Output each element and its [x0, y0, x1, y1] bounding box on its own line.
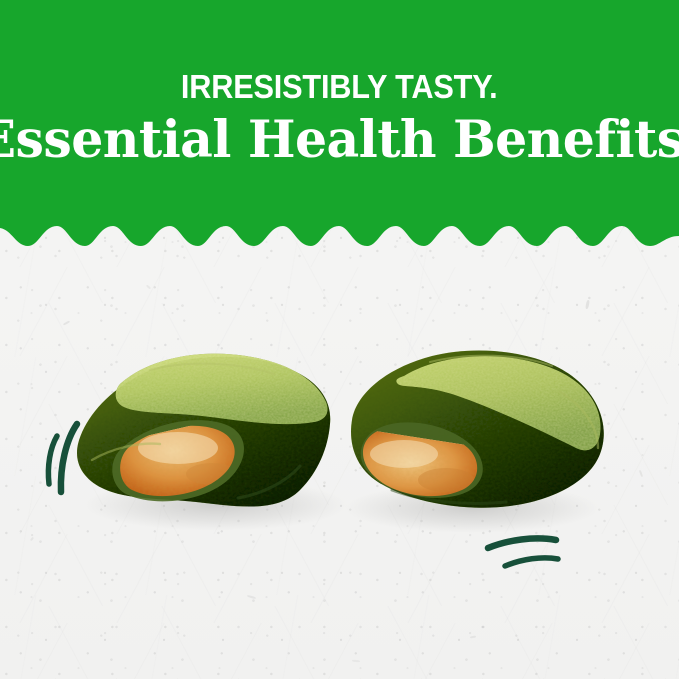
headline-text: Essential Health Benefits.	[0, 115, 679, 166]
eyebrow-text: IRRESISTIBLY TASTY.	[181, 70, 498, 103]
treat-half-right	[348, 350, 604, 507]
product-photo-stage	[0, 252, 679, 679]
header-text-block: IRRESISTIBLY TASTY. Essential Health Ben…	[0, 0, 679, 226]
motion-lines-right	[488, 538, 558, 566]
header-panel: IRRESISTIBLY TASTY. Essential Health Ben…	[0, 0, 679, 252]
motion-line-left-inner-icon	[61, 424, 77, 492]
advertisement-banner: IRRESISTIBLY TASTY. Essential Health Ben…	[0, 0, 679, 679]
motion-line-right-upper-icon	[488, 538, 556, 548]
treat-half-left	[77, 354, 330, 507]
motion-line-right-lower-icon	[505, 558, 558, 566]
motion-line-left-outer-icon	[48, 436, 57, 484]
motion-lines-left	[48, 424, 77, 492]
